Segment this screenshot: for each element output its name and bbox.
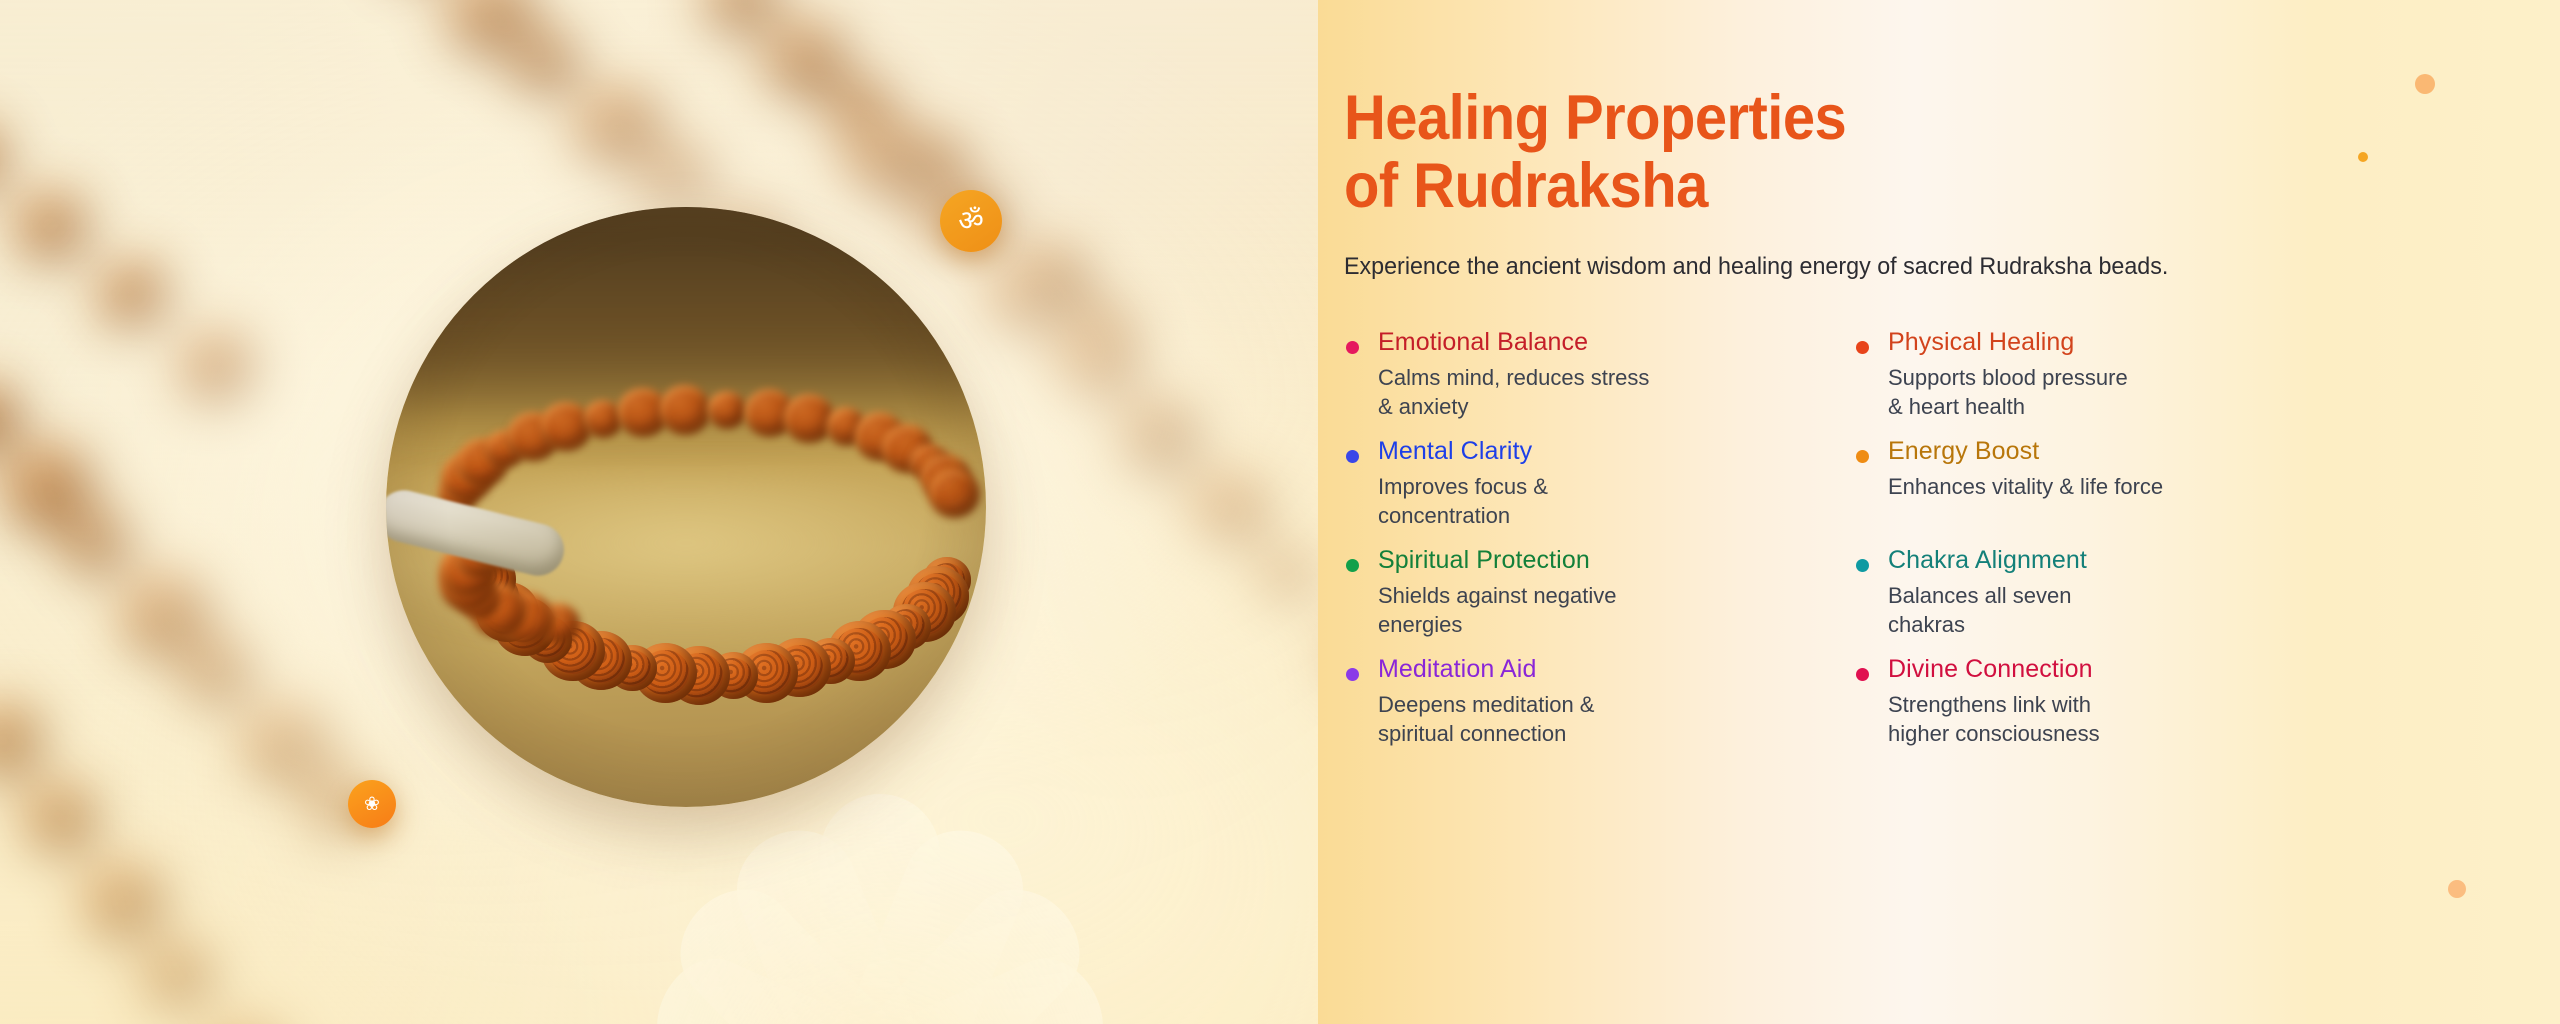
- page-subtitle: Experience the ancient wisdom and healin…: [1344, 250, 2324, 284]
- feature-item[interactable]: Physical HealingSupports blood pressure …: [1854, 326, 2364, 421]
- feature-title: Mental Clarity: [1378, 435, 1854, 468]
- feature-description: Supports blood pressure & heart health: [1888, 363, 2218, 422]
- feature-item[interactable]: Meditation AidDeepens meditation & spiri…: [1344, 653, 1854, 748]
- bullet-dot-icon: [1856, 559, 1869, 572]
- feature-title: Emotional Balance: [1378, 326, 1854, 359]
- deco-dot-1: [2415, 74, 2435, 94]
- feature-item[interactable]: Spiritual ProtectionShields against nega…: [1344, 544, 1854, 639]
- feature-description: Enhances vitality & life force: [1888, 472, 2308, 501]
- bullet-dot-icon: [1346, 450, 1359, 463]
- bullet-dot-icon: [1856, 450, 1869, 463]
- bullet-dot-icon: [1856, 341, 1869, 354]
- bullet-dot-icon: [1346, 559, 1359, 572]
- om-glyph: ॐ: [958, 207, 984, 235]
- feature-item[interactable]: Emotional BalanceCalms mind, reduces str…: [1344, 326, 1854, 421]
- feature-title: Energy Boost: [1888, 435, 2364, 468]
- feature-description: Calms mind, reduces stress & anxiety: [1378, 363, 1708, 422]
- lotus-icon[interactable]: ❀: [348, 780, 396, 828]
- photo-vignette: [386, 207, 986, 807]
- rudraksha-photo: [386, 207, 986, 807]
- feature-description: Shields against negative energies: [1378, 581, 1708, 640]
- bullet-dot-icon: [1856, 668, 1869, 681]
- om-icon[interactable]: ॐ: [940, 190, 1002, 252]
- feature-list: Emotional BalanceCalms mind, reduces str…: [1344, 326, 2404, 762]
- image-panel: ॐ ❀: [0, 0, 1318, 1024]
- feature-description: Improves focus & concentration: [1378, 472, 1708, 531]
- content-panel: Healing Properties of Rudraksha Experien…: [1318, 0, 2560, 1024]
- feature-item[interactable]: Chakra AlignmentBalances all seven chakr…: [1854, 544, 2364, 639]
- lotus-glyph: ❀: [364, 795, 380, 814]
- deco-dot-3: [2448, 880, 2466, 898]
- feature-title: Meditation Aid: [1378, 653, 1854, 686]
- page-title: Healing Properties of Rudraksha: [1344, 84, 2319, 220]
- bullet-dot-icon: [1346, 341, 1359, 354]
- feature-title: Divine Connection: [1888, 653, 2364, 686]
- bullet-dot-icon: [1346, 668, 1359, 681]
- feature-item[interactable]: Mental ClarityImproves focus & concentra…: [1344, 435, 1854, 530]
- feature-description: Strengthens link with higher consciousne…: [1888, 690, 2218, 749]
- feature-description: Deepens meditation & spiritual connectio…: [1378, 690, 1708, 749]
- feature-item[interactable]: Divine ConnectionStrengthens link with h…: [1854, 653, 2364, 748]
- feature-title: Physical Healing: [1888, 326, 2364, 359]
- feature-title: Chakra Alignment: [1888, 544, 2364, 577]
- feature-description: Balances all seven chakras: [1888, 581, 2218, 640]
- hero-section: ॐ ❀ Healing Properties of Rudraksha Expe…: [0, 0, 2560, 1024]
- feature-item[interactable]: Energy BoostEnhances vitality & life for…: [1854, 435, 2364, 530]
- feature-title: Spiritual Protection: [1378, 544, 1854, 577]
